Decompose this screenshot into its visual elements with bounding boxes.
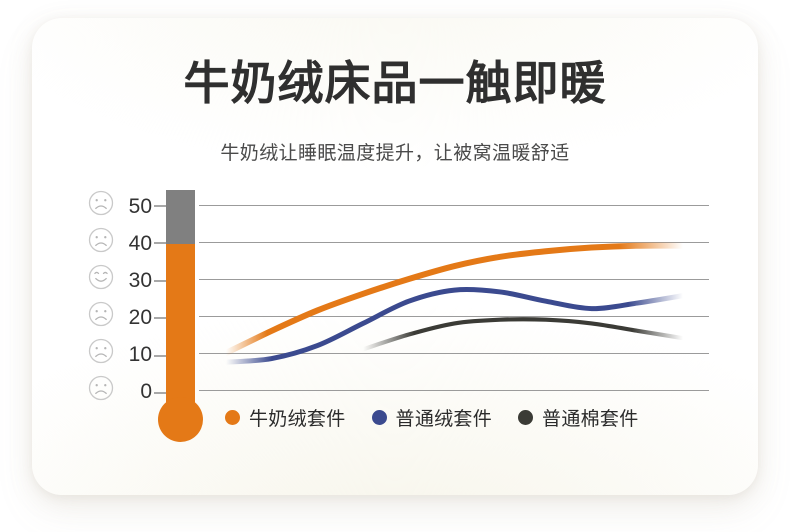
legend-item-label: 普通绒套件 — [396, 404, 493, 431]
promo-infographic: 牛奶绒床品一触即暖 牛奶绒让睡眠温度提升，让被窝温暖舒适 — [0, 0, 790, 532]
frowning-face-icon — [88, 375, 114, 401]
axis-tick-label: 50 — [129, 196, 152, 217]
chart-legend: 牛奶绒套件 普通绒套件 普通棉套件 — [225, 404, 639, 431]
thermometer-empty-fill — [166, 190, 195, 244]
chart-curves — [199, 188, 711, 394]
axis-tick-label: 30 — [129, 270, 152, 291]
legend-dot-icon — [225, 410, 240, 425]
page-subtitle: 牛奶绒让睡眠温度提升，让被窝温暖舒适 — [0, 138, 790, 165]
legend-item-plain-velvet[interactable]: 普通绒套件 — [372, 404, 493, 431]
axis-tick-label: 0 — [140, 381, 152, 402]
mood-icon-column — [88, 190, 116, 400]
frowning-face-icon — [88, 338, 114, 364]
legend-item-label: 普通棉套件 — [542, 404, 639, 431]
legend-dot-icon — [372, 410, 387, 425]
frowning-face-icon — [88, 190, 114, 216]
legend-item-plain-cotton[interactable]: 普通棉套件 — [518, 404, 639, 431]
thermometer-tube — [166, 190, 195, 425]
thermometer-bulb — [158, 397, 203, 442]
axis-tick-label: 10 — [129, 344, 152, 365]
frowning-face-icon — [88, 301, 114, 327]
smiling-face-icon — [88, 264, 114, 290]
temperature-axis-labels: 50 40 30 20 10 0 — [116, 190, 152, 400]
legend-item-label: 牛奶绒套件 — [249, 404, 346, 431]
line-chart-plot — [199, 188, 711, 394]
frowning-face-icon — [88, 227, 114, 253]
page-title: 牛奶绒床品一触即暖 — [0, 58, 790, 110]
axis-tick-label: 20 — [129, 307, 152, 328]
series-path-plain-cotton — [363, 319, 683, 349]
legend-dot-icon — [518, 410, 533, 425]
legend-item-milk-velvet[interactable]: 牛奶绒套件 — [225, 404, 346, 431]
axis-tick-label: 40 — [129, 233, 152, 254]
series-path-milk-velvet — [226, 246, 683, 353]
